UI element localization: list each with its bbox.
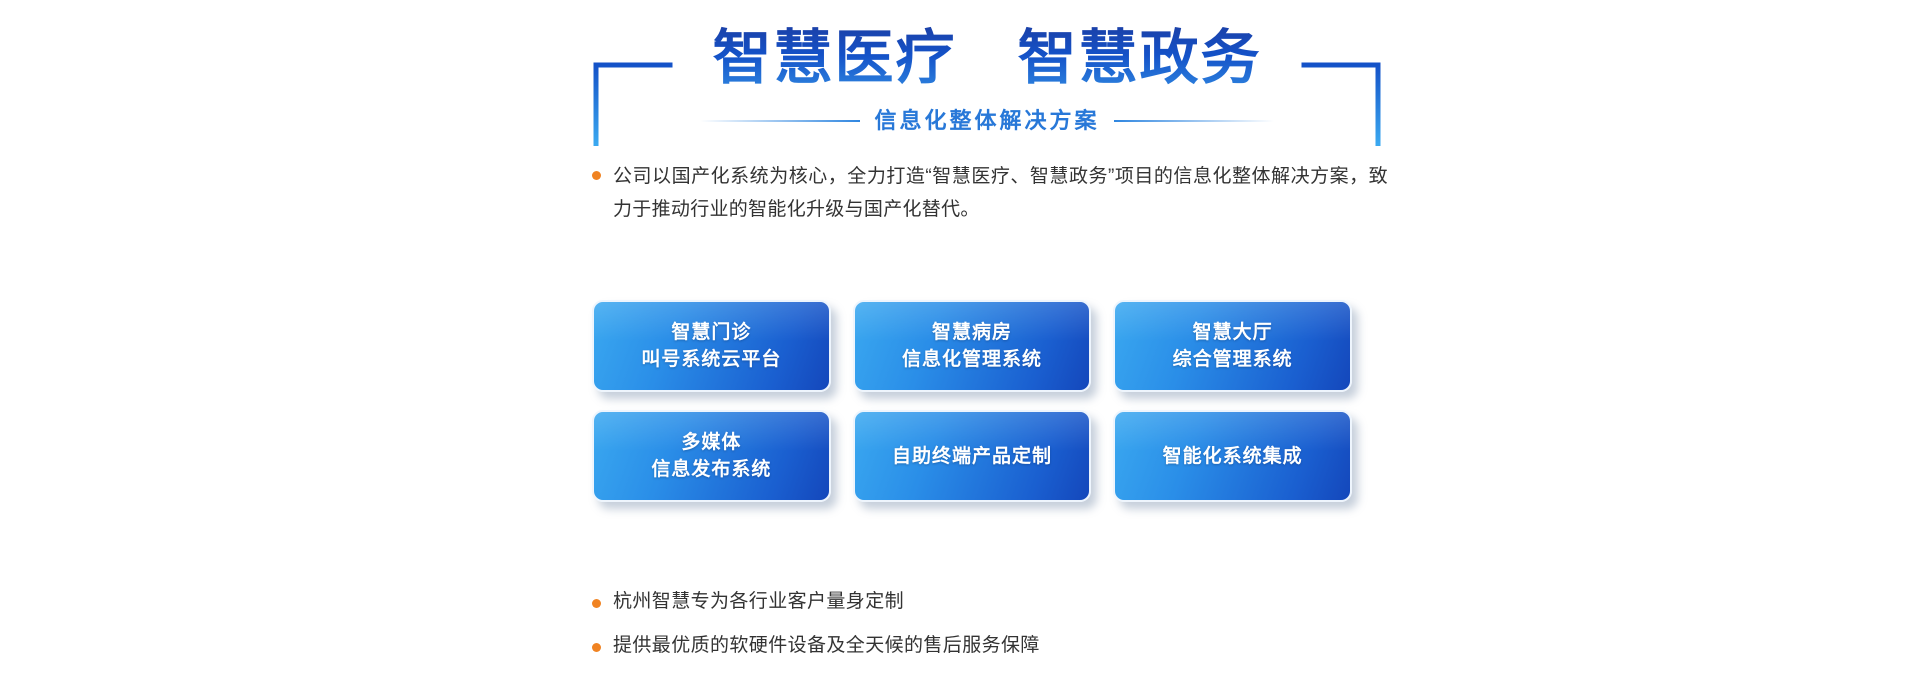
card-title-line-1: 多媒体	[681, 429, 741, 456]
card-title-line-2: 叫号系统云平台	[641, 346, 781, 373]
promo-banner: 智慧医疗 智慧政务 智慧医疗 智慧政务 信息化整体解决方案 公司以国产化系统为核…	[0, 0, 1920, 680]
card-title-line-1: 智慧门诊	[671, 319, 751, 346]
card-title-line-1: 智慧病房	[932, 319, 1012, 346]
intro-text: 公司以国产化系统为核心，全力打造“智慧医疗、智慧政务”项目的信息化整体解决方案，…	[613, 160, 1388, 226]
page-title: 智慧医疗 智慧政务	[592, 24, 1382, 92]
page-subtitle: 信息化整体解决方案	[874, 106, 1099, 136]
list-item: 杭州智慧专为各行业客户量身定制	[592, 588, 1352, 616]
solution-card[interactable]: 智慧病房 信息化管理系统	[853, 300, 1092, 392]
card-title-line-1: 自助终端产品定制	[892, 443, 1052, 470]
card-title-line-2: 信息化管理系统	[902, 346, 1042, 373]
title-block: 智慧医疗 智慧政务 智慧医疗 智慧政务 信息化整体解决方案	[592, 24, 1382, 146]
feature-bullet-list: 杭州智慧专为各行业客户量身定制 提供最优质的软硬件设备及全天候的售后服务保障	[592, 588, 1352, 676]
card-title-line-1: 智慧大厅	[1193, 319, 1273, 346]
list-item: 提供最优质的软硬件设备及全天候的售后服务保障	[592, 632, 1352, 660]
solution-card[interactable]: 多媒体 信息发布系统	[592, 410, 831, 502]
card-title-line-2: 综合管理系统	[1173, 346, 1293, 373]
bullet-text: 提供最优质的软硬件设备及全天候的售后服务保障	[613, 632, 1040, 660]
solution-card[interactable]: 智慧大厅 综合管理系统	[1113, 300, 1352, 392]
solution-card[interactable]: 智能化系统集成	[1113, 410, 1352, 502]
solution-card[interactable]: 自助终端产品定制	[853, 410, 1092, 502]
bullet-dot-icon	[592, 171, 601, 180]
bullet-text: 杭州智慧专为各行业客户量身定制	[613, 588, 904, 616]
bullet-dot-icon	[592, 599, 601, 608]
subtitle-rule-left	[700, 120, 860, 122]
card-title-line-2: 信息发布系统	[651, 456, 771, 483]
solution-card-grid: 智慧门诊 叫号系统云平台 智慧病房 信息化管理系统 智慧大厅 综合管理系统 多媒…	[592, 300, 1352, 502]
bullet-dot-icon	[592, 643, 601, 652]
solution-card[interactable]: 智慧门诊 叫号系统云平台	[592, 300, 831, 392]
subtitle-row: 信息化整体解决方案	[592, 106, 1382, 136]
subtitle-rule-right	[1114, 120, 1274, 122]
intro-paragraph: 公司以国产化系统为核心，全力打造“智慧医疗、智慧政务”项目的信息化整体解决方案，…	[592, 160, 1392, 226]
card-title-line-1: 智能化系统集成	[1163, 443, 1303, 470]
